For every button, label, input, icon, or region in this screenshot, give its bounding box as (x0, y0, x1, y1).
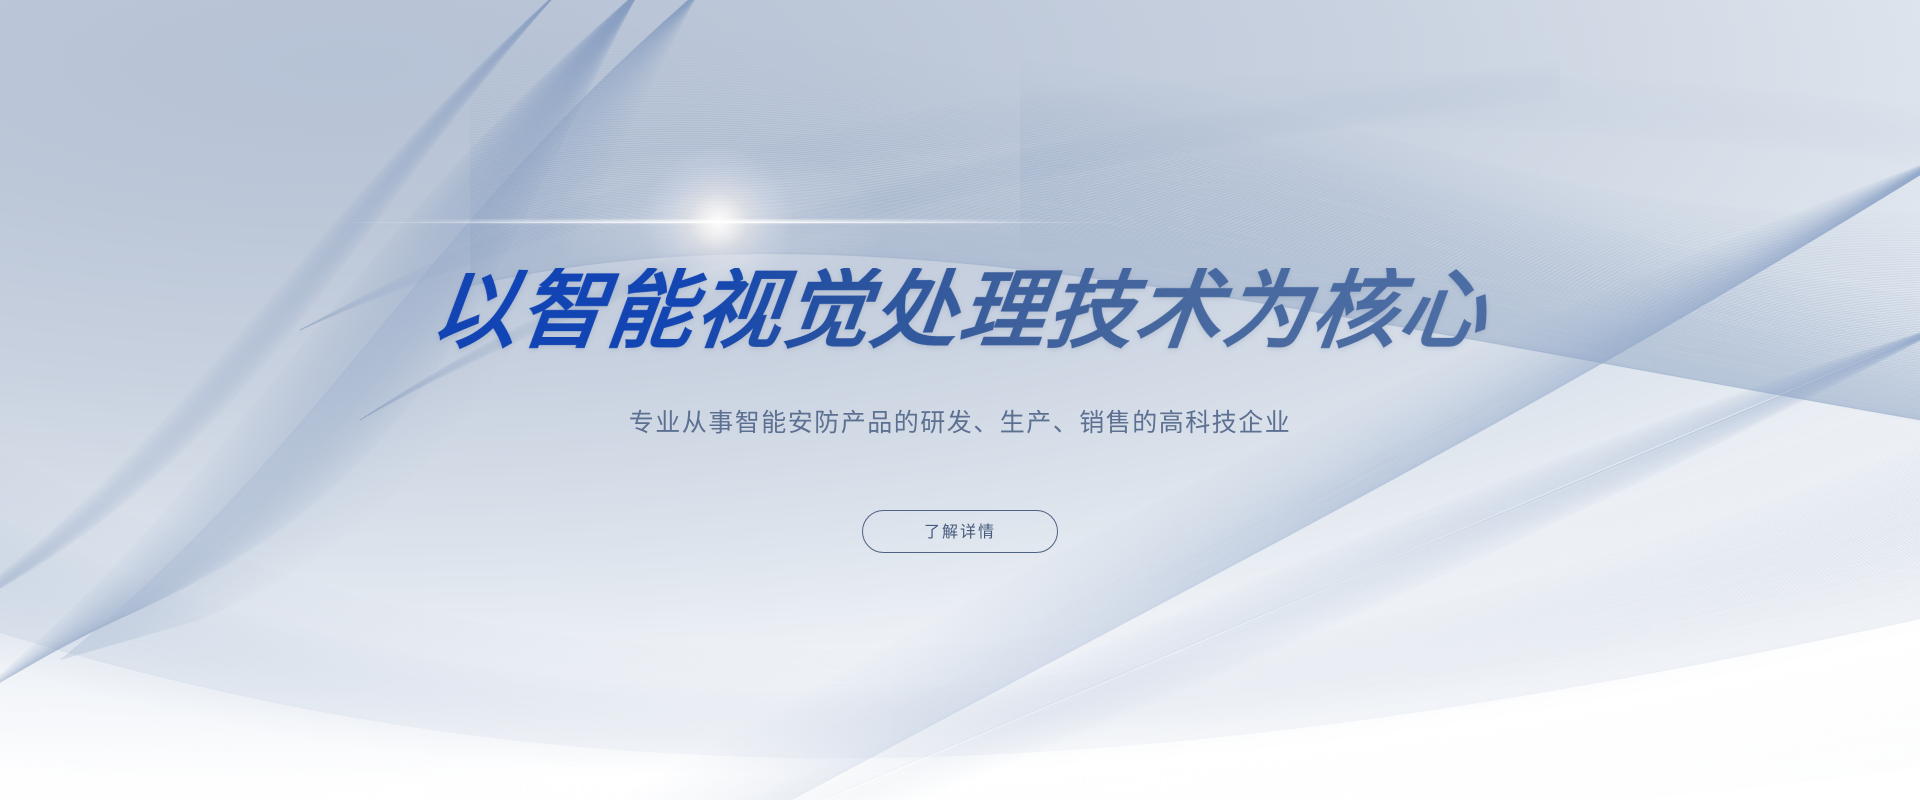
hero-subtitle: 专业从事智能安防产品的研发、生产、销售的高科技企业 (0, 403, 1920, 439)
hero-banner: 以智能视觉处理技术为核心 专业从事智能安防产品的研发、生产、销售的高科技企业 了… (0, 0, 1920, 800)
cta-container: 了解详情 (0, 510, 1920, 553)
page-title: 以智能视觉处理技术为核心 (0, 268, 1920, 354)
hero-content: 以智能视觉处理技术为核心 专业从事智能安防产品的研发、生产、销售的高科技企业 了… (0, 0, 1920, 800)
learn-more-button[interactable]: 了解详情 (862, 510, 1058, 553)
